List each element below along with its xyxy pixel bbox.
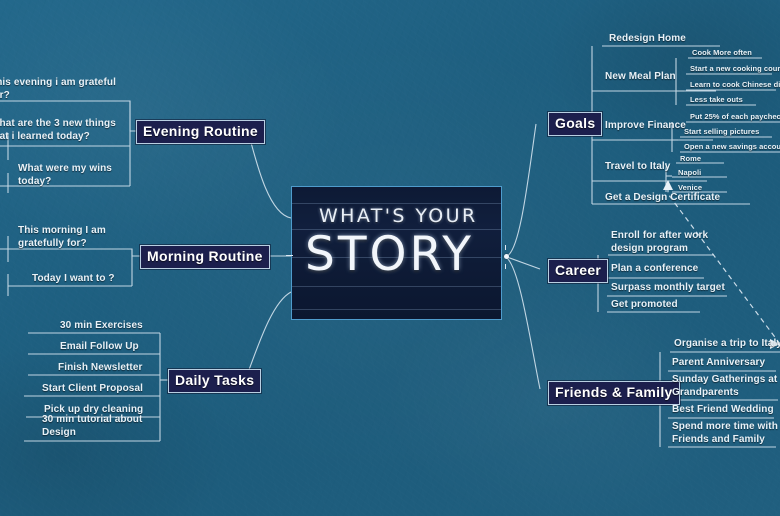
leaf-career-1[interactable]: Enroll for after work design program	[611, 230, 711, 255]
selection-marker-a	[505, 245, 506, 250]
leaf-daily-3[interactable]: Finish Newsletter	[58, 362, 143, 375]
leaf-meal-4[interactable]: Less take outs	[690, 95, 743, 105]
leaf-daily-2[interactable]: Email Follow Up	[60, 341, 139, 354]
node-friends-family[interactable]: Friends & Family	[548, 381, 680, 405]
relation-arrowhead	[663, 180, 673, 190]
leaf-morning-2[interactable]: Today I want to ?	[32, 273, 115, 286]
leaf-daily-1[interactable]: 30 min Exercises	[60, 320, 143, 333]
leaf-finance-3[interactable]: Open a new savings account	[684, 142, 780, 152]
node-career[interactable]: Career	[548, 259, 608, 283]
leaf-italy-2[interactable]: Napoli	[678, 168, 701, 178]
leaf-goals-travel-to-italy[interactable]: Travel to Italy	[605, 161, 670, 174]
leaf-evening-1[interactable]: This evening i am grateful for?	[0, 77, 125, 102]
leaf-goals-new-meal-plan[interactable]: New Meal Plan	[605, 71, 676, 84]
leaf-finance-2[interactable]: Start selling pictures	[684, 127, 759, 137]
leaf-morning-1[interactable]: This morning I am gratefully for?	[18, 225, 133, 250]
bracket-morning-spine	[0, 249, 140, 256]
node-goals[interactable]: Goals	[548, 112, 602, 136]
selection-handle-left[interactable]	[286, 255, 293, 256]
leaf-friends-4[interactable]: Best Friend Wedding	[672, 404, 774, 417]
selection-handle-right[interactable]	[504, 254, 509, 259]
leaf-meal-2[interactable]: Start a new cooking course	[690, 64, 780, 74]
leaf-meal-3[interactable]: Learn to cook Chinese dishes	[690, 80, 780, 90]
curve-goals	[507, 124, 536, 256]
leaf-friends-3[interactable]: Sunday Gatherings at Grandparents	[672, 374, 780, 399]
curve-daily	[246, 292, 291, 378]
leaf-daily-4[interactable]: Start Client Proposal	[42, 383, 143, 396]
board-rule	[292, 286, 501, 287]
leaf-goals-redesign-home[interactable]: Redesign Home	[609, 33, 686, 46]
leaf-career-4[interactable]: Get promoted	[611, 299, 678, 312]
leaf-friends-5[interactable]: Spend more time with Friends and Family	[672, 421, 778, 446]
center-chalkboard-image[interactable]: WHAT'S YOUR STORY	[291, 186, 502, 320]
mindmap-canvas[interactable]: WHAT'S YOUR STORY Evening Routine This e…	[0, 0, 780, 516]
curve-friends	[507, 258, 540, 389]
leaf-friends-1[interactable]: Organise a trip to Italy	[674, 338, 780, 351]
leaf-finance-1[interactable]: Put 25% of each paycheck	[690, 112, 780, 122]
leaf-daily-6[interactable]: 30 min tutorial about Design	[42, 414, 162, 439]
board-rule	[292, 203, 501, 204]
leaf-goals-improve-finance[interactable]: Improve Finance	[605, 120, 686, 133]
board-text-line-1: WHAT'S YOUR	[319, 205, 489, 227]
curve-evening	[248, 131, 291, 218]
curve-career	[507, 257, 540, 269]
node-daily-tasks[interactable]: Daily Tasks	[168, 369, 261, 393]
leaf-career-2[interactable]: Plan a conference	[611, 263, 698, 276]
leaf-evening-2[interactable]: What are the 3 new things that i learned…	[0, 118, 120, 143]
leaf-goals-design-certificate[interactable]: Get a Design Certificate	[605, 192, 720, 205]
board-text-line-2: STORY	[305, 231, 495, 278]
leaf-friends-2[interactable]: Parent Anniversary	[672, 357, 765, 370]
leaf-italy-1[interactable]: Rome	[680, 154, 701, 164]
selection-marker-b	[505, 264, 506, 269]
node-evening-routine[interactable]: Evening Routine	[136, 120, 265, 144]
leaf-meal-1[interactable]: Cook More often	[692, 48, 752, 58]
leaf-evening-3[interactable]: What were my wins today?	[18, 163, 128, 188]
node-morning-routine[interactable]: Morning Routine	[140, 245, 270, 269]
leaf-career-3[interactable]: Surpass monthly target	[611, 282, 725, 295]
board-rule	[292, 309, 501, 310]
